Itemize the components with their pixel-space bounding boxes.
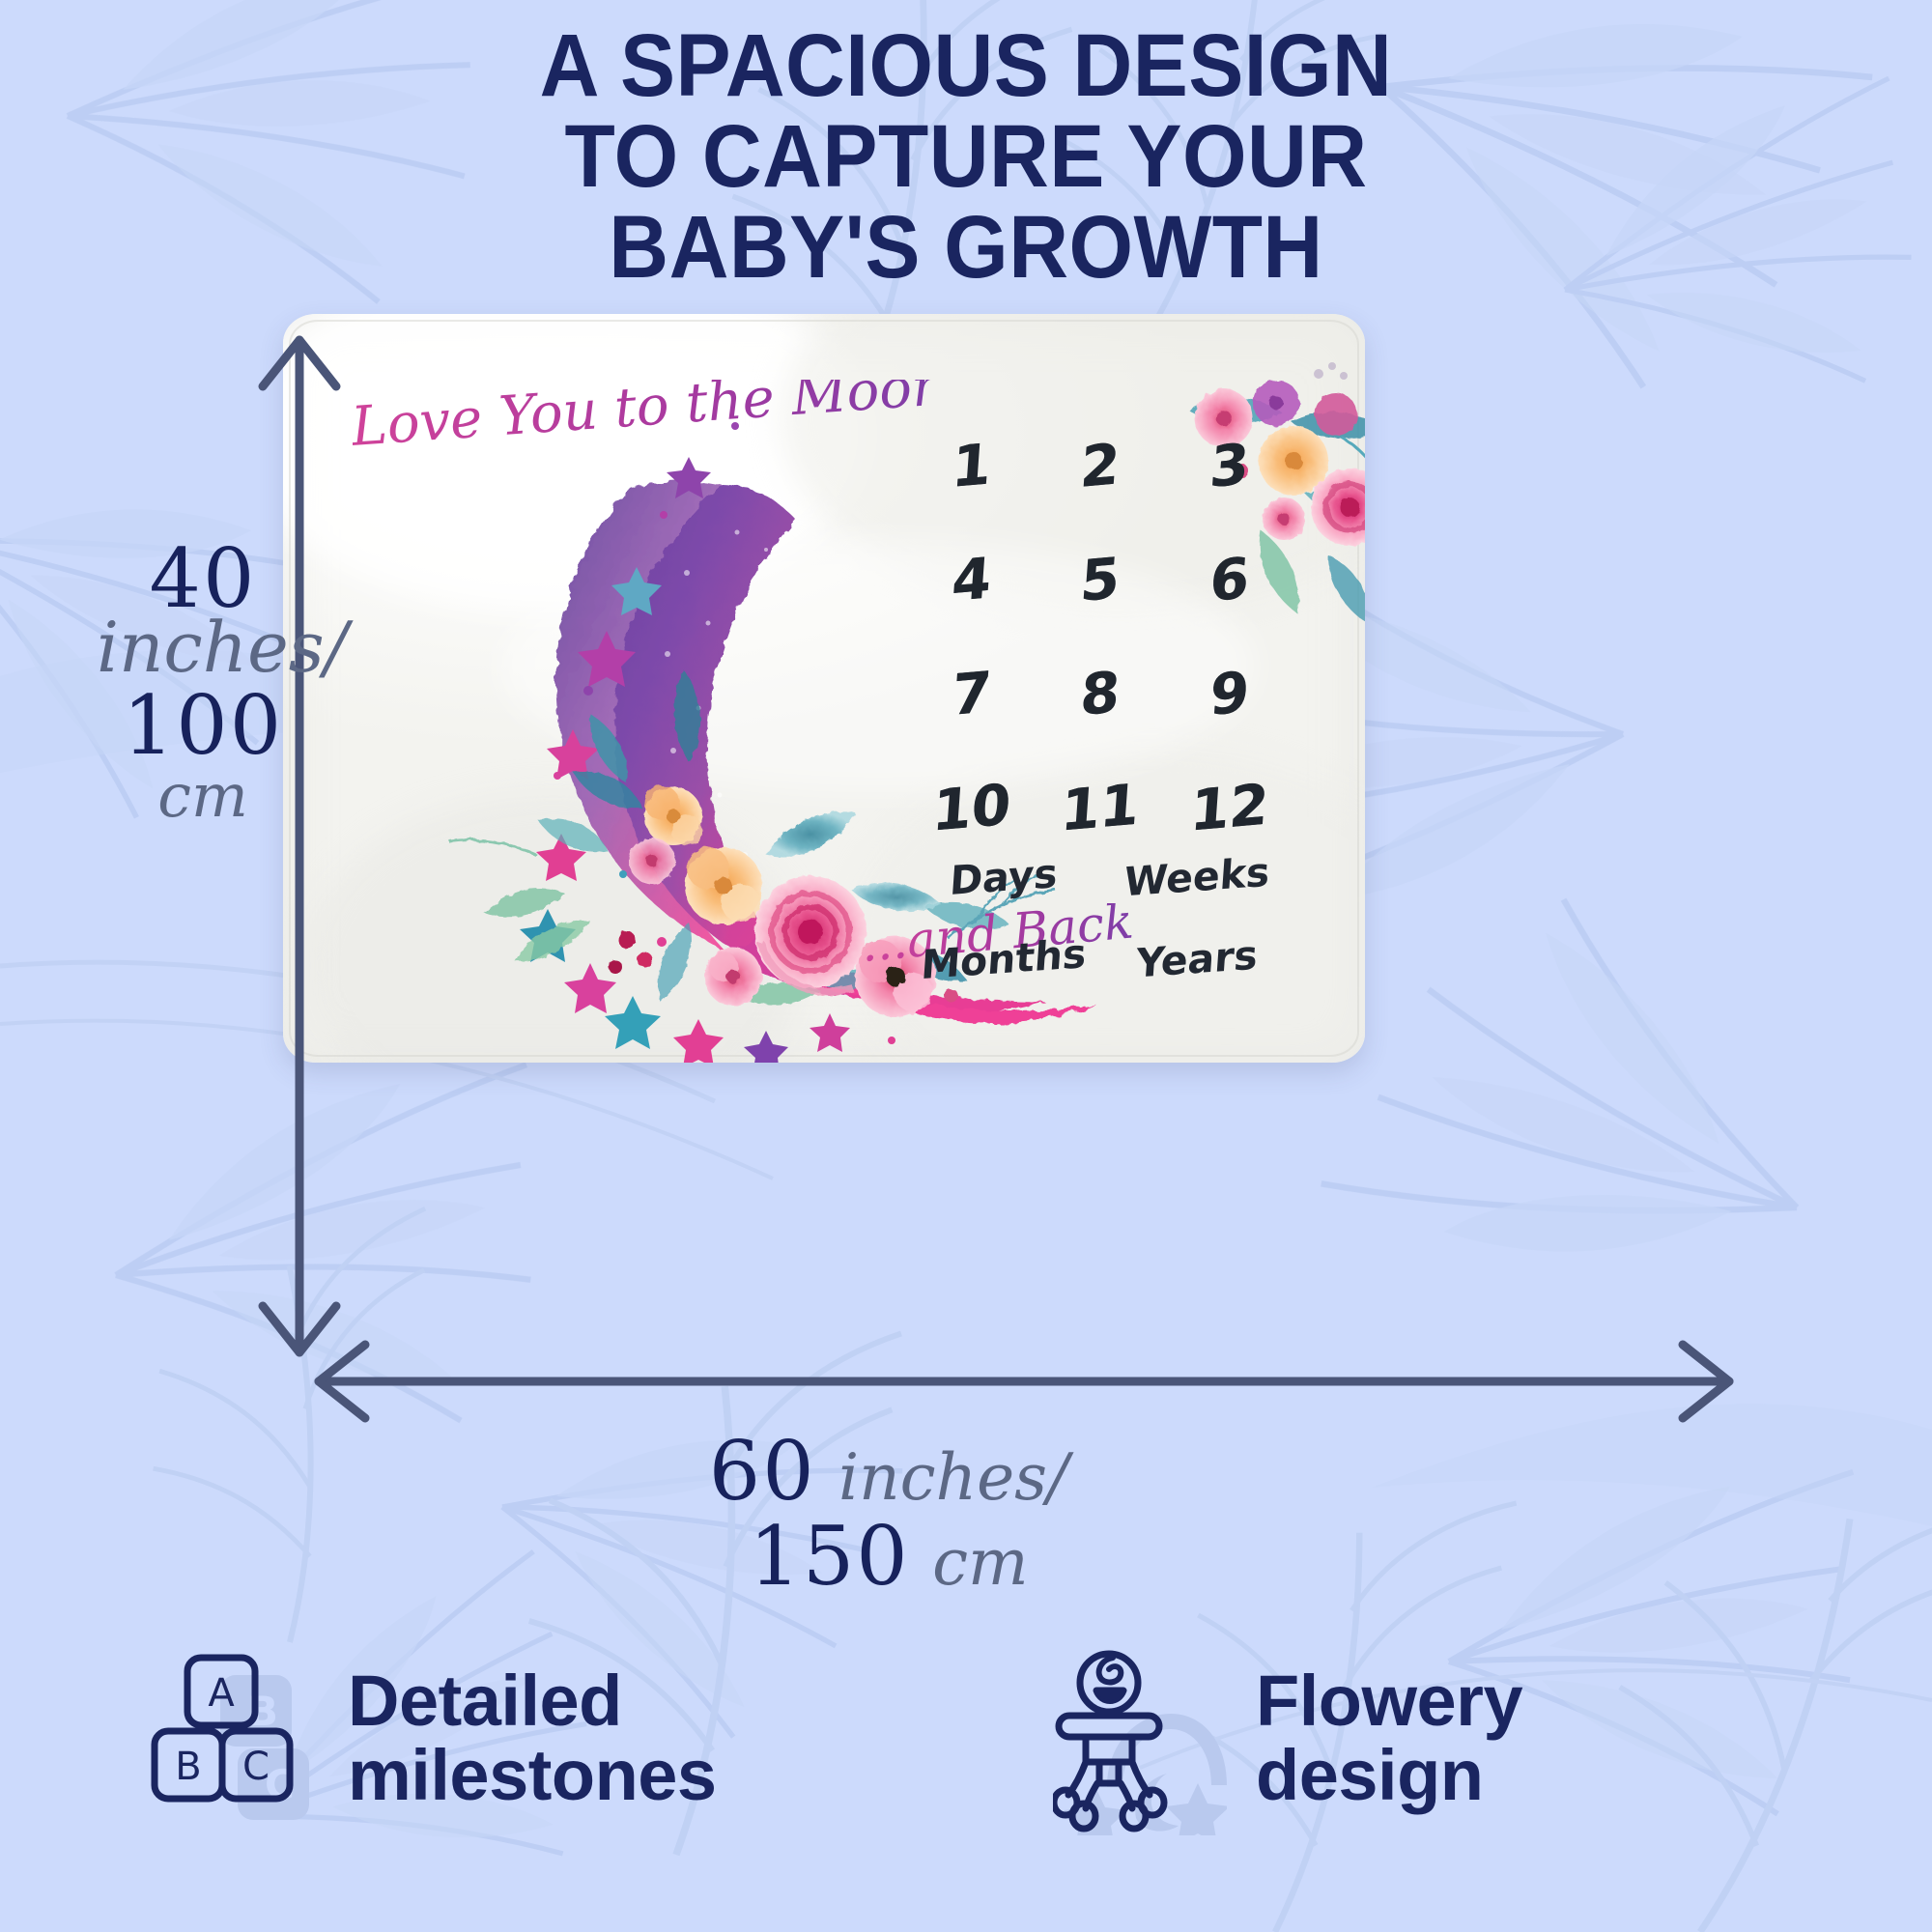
block-letter-a: A — [208, 1671, 235, 1716]
width-unit-inches: inches/ — [838, 1440, 1068, 1515]
height-unit-cm: cm — [97, 766, 309, 826]
height-unit-inches: inches/ — [97, 612, 309, 683]
feature-label-line-2: milestones — [348, 1739, 717, 1813]
abc-blocks-icon: B C A B C — [145, 1642, 319, 1835]
feature-label-line-1: Detailed — [348, 1664, 717, 1739]
block-letter-b: B — [175, 1745, 201, 1789]
feature-label: Flowery design — [1256, 1664, 1522, 1813]
width-value-inches: 60 — [709, 1424, 816, 1519]
promo-graphic: A SPACIOUS DESIGN TO CAPTURE YOUR BABY'S… — [0, 0, 1932, 1932]
width-dimension-label: 60 inches/ 150 cm — [618, 1430, 1159, 1600]
width-unit-cm: cm — [932, 1525, 1029, 1600]
height-value-cm: 100 — [97, 685, 309, 766]
width-value-cm: 150 — [749, 1509, 909, 1604]
feature-label-line-1: Flowery — [1256, 1664, 1522, 1739]
feature-label-line-2: design — [1256, 1739, 1522, 1813]
feature-flowery-design: Flowery design — [1053, 1642, 1522, 1835]
baby-mobile-icon — [1053, 1642, 1227, 1835]
feature-label: Detailed milestones — [348, 1664, 717, 1813]
block-letter-c: C — [242, 1745, 270, 1789]
height-dimension-label: 40 inches/ 100 cm — [97, 541, 309, 826]
feature-detailed-milestones: B C A B C Detailed milestones — [145, 1642, 717, 1835]
